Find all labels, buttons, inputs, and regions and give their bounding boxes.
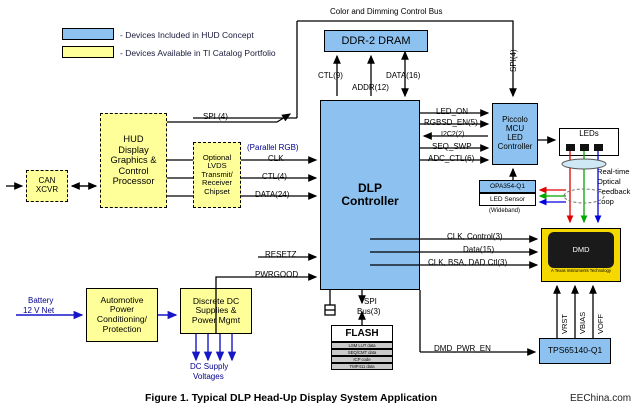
label-spi4-vertical: SPI(4) [510,49,519,72]
discrete-line3: Power Mgmt [192,316,240,326]
label-i2c2: I2C2(2) [441,131,464,139]
label-data15: Data(15) [463,246,494,255]
label-color-dimming-bus: Color and Dimming Control Bus [330,8,443,17]
flash-row-0: LSM LUT data [331,342,393,349]
label-pwrgood: PWRGOOD [255,271,298,280]
block-opa354: OPA354-Q1 [479,180,536,193]
flash-contents: LSM LUT data SEQ/CMT data ICP code TMP41… [331,342,393,370]
flash-row-2: ICP code [331,356,393,363]
label-spi-bus-line2: Bus(3) [357,308,381,317]
label-data16: DATA(16) [386,72,420,81]
hud-line2: Display [118,145,148,155]
legend-swatch-catalog [62,46,114,58]
wideband-label: (Wideband) [489,208,520,215]
hud-line3: Graphics & [111,155,157,165]
dmd-label: DMD [572,246,589,254]
label-led-on: LED_ON [436,108,468,117]
label-dc-supply-line1: DC Supply [190,363,228,372]
block-piccolo-mcu: Piccolo MCU LED Controller [492,103,538,165]
watermark: EEChina.com [570,393,631,404]
label-adc-ctl: ADC_CTL(6) [428,155,474,164]
label-ctl4: CTL(4) [262,173,287,182]
label-vbias: VBIAS [579,312,587,334]
block-dmd-housing: DMD A Texas Instruments Technology [541,228,621,282]
label-addr12: ADDR(12) [352,84,389,93]
label-battery-line2: 12 V Net [23,307,54,316]
flash-row-3: TMP411 data [331,363,393,370]
block-dlp-controller: DLP Controller [320,100,420,290]
label-vrst: VRST [561,314,569,334]
label-dmd-pwr-en: DMD_PWR_EN [434,345,491,354]
block-flash: FLASH [331,325,393,342]
dmd-subtitle: A Texas Instruments Technology [551,269,611,274]
label-clk-control3: CLK, Control(3) [447,233,503,242]
dlp-line1: DLP [358,182,382,195]
label-dc-supply-line2: Voltages [193,373,224,382]
hud-line5: Processor [113,176,155,186]
label-voff: VOFF [597,314,605,334]
label-spi-bus-line1: SPI [364,298,377,307]
dmd-inner: DMD [548,232,614,268]
dlp-line2: Controller [341,195,398,208]
label-rgbsd-en: RGBSD_EN(5) [424,119,478,128]
block-hud-processor: HUD Display Graphics & Control Processor [100,113,167,208]
can-xcvr-line2: XCVR [36,186,58,195]
hud-line1: HUD [123,134,143,144]
block-automotive-power: Automotive Power Conditioning/ Protectio… [86,288,158,342]
label-ctl9: CTL(9) [318,72,343,81]
legend-swatch-hud [62,28,114,40]
feedback-loop-line2: Optical [597,178,621,186]
label-spi4: SPI (4) [203,113,228,122]
led-emitter-red [566,144,575,151]
lvds-line5: Chipset [204,188,230,197]
auto-power-line4: Protection [103,325,142,335]
figure-caption: Figure 1. Typical DLP Head-Up Display Sy… [145,392,437,404]
feedback-loop-line3: Feedback [597,188,630,196]
label-data24: DATA(24) [255,191,289,200]
label-resetz: RESETZ [265,251,297,260]
diagram-canvas: - Devices Included in HUD Concept - Devi… [0,0,642,414]
label-battery-line1: Battery [28,297,53,306]
block-can-xcvr: CAN XCVR [26,170,68,202]
legend-label-hud: - Devices Included in HUD Concept [120,30,254,40]
feedback-loop-line1: Real-time [597,168,630,176]
block-tps65140: TPS65140-Q1 [539,338,611,364]
led-emitter-green [580,144,589,151]
block-led-sensor: LED Sensor [479,193,536,206]
label-seq-swp: SEQ_SWP [432,143,472,152]
block-lvds-chipset: Optional LVDS Transmit/ Receiver Chipset [193,142,241,208]
piccolo-line4: Controller [498,143,533,152]
hud-line4: Control [119,166,149,176]
flash-row-1: SEQ/CMT data [331,349,393,356]
led-emitter-blue [594,144,603,151]
leds-label: LEDs [579,130,599,139]
label-clk-bsa-dad: CLK, BSA, DAD Ctl(3) [428,259,507,268]
feedback-loop-line4: Loop [597,198,614,206]
legend-label-catalog: - Devices Available in TI Catalog Portfo… [120,48,276,58]
label-parallel-rgb: (Parallel RGB) [247,144,299,153]
block-leds: LEDs [559,128,619,156]
block-ddr2-dram: DDR-2 DRAM [324,30,428,52]
label-clk: CLK [268,155,284,164]
block-discrete-dc: Discrete DC Supplies & Power Mgmt [180,288,252,334]
